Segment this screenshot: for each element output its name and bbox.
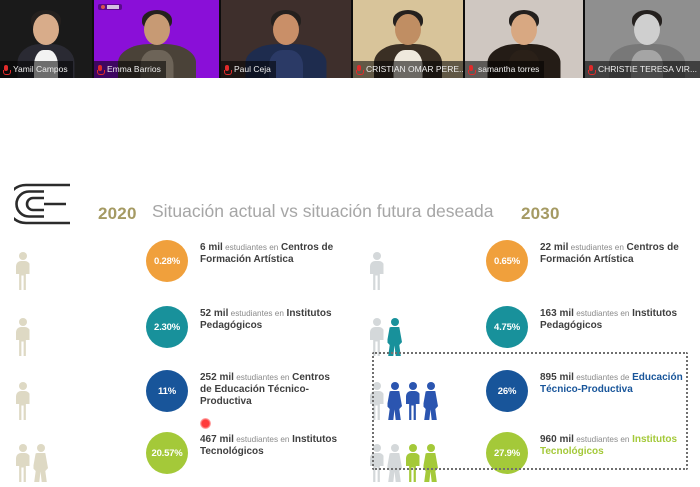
recording-bars-icon (107, 5, 119, 9)
stat-count: 6 mil (200, 242, 223, 253)
stat-connector: estudiantes en (574, 435, 630, 444)
participant-head (634, 14, 660, 45)
participant-name: Yamil Campos (13, 61, 68, 78)
percentage-bubble: 2.30% (146, 306, 188, 348)
person-head (427, 382, 435, 390)
participant-name: CHRISTIE TERESA VIR... (598, 61, 697, 78)
stat-row-right-0: 0.65%22 mil estudiantes en Centros de Fo… (350, 238, 700, 290)
person-head (373, 444, 381, 452)
percentage-bubble: 4.75% (486, 306, 528, 348)
participant-name: CRISTIAN OMAR PERE... (366, 61, 463, 78)
person-body (33, 453, 48, 482)
stat-connector: estudiantes en (234, 435, 290, 444)
person-body (387, 391, 402, 420)
participant-name-bar: Paul Ceja (221, 61, 276, 78)
stat-connector: estudiantes de (574, 373, 630, 382)
video-tile-2[interactable]: Paul Ceja (221, 0, 351, 78)
person-body (370, 391, 384, 420)
stat-row-right-2: 26%895 mil estudiantes de Educación Técn… (350, 368, 700, 420)
percentage-bubble: 0.28% (146, 240, 188, 282)
percentage-bubble: 20.57% (146, 432, 188, 474)
participant-head (395, 14, 421, 45)
stat-row-right-3: 27.9%960 mil estudiantes en Institutos T… (350, 430, 700, 482)
percentage-value: 0.65% (494, 256, 520, 267)
stat-count: 467 mil (200, 434, 234, 445)
percentage-value: 2.30% (154, 322, 180, 333)
person-head (373, 318, 381, 326)
stat-description: 6 mil estudiantes en Centros de Formació… (200, 242, 344, 266)
person-icon-0 (368, 444, 385, 482)
stat-description: 960 mil estudiantes en Institutos Tecnol… (540, 434, 694, 458)
microphone-muted-icon (356, 65, 363, 75)
percentage-value: 0.28% (154, 256, 180, 267)
microphone-muted-icon (97, 65, 104, 75)
person-body (406, 453, 420, 482)
person-body (423, 391, 438, 420)
person-icon-1 (32, 444, 49, 482)
microphone-muted-icon (588, 65, 595, 75)
person-icon-0 (14, 252, 31, 290)
person-body (16, 261, 30, 290)
column-2030: 0.65%22 mil estudiantes en Centros de Fo… (350, 238, 700, 487)
percentage-value: 4.75% (494, 322, 520, 333)
person-body (370, 261, 384, 290)
participant-name-bar: samantha torres (465, 61, 544, 78)
person-head (37, 444, 45, 452)
percentage-value: 20.57% (151, 448, 182, 459)
people-pictogram (368, 238, 488, 290)
person-icon-0 (14, 444, 31, 482)
percentage-bubble: 0.65% (486, 240, 528, 282)
participant-head (144, 14, 170, 45)
person-head (19, 444, 27, 452)
person-body (370, 453, 384, 482)
person-head (409, 382, 417, 390)
stat-count: 52 mil (200, 308, 228, 319)
people-pictogram (368, 430, 488, 482)
stat-count: 895 mil (540, 372, 574, 383)
percentage-bubble: 11% (146, 370, 188, 412)
person-icon-3 (422, 382, 439, 420)
people-pictogram (368, 304, 488, 356)
participant-head (511, 14, 537, 45)
person-head (391, 444, 399, 452)
person-icon-2 (404, 444, 421, 482)
participant-name-bar: Yamil Campos (0, 61, 73, 78)
page-title: Situación actual vs situación futura des… (152, 201, 512, 222)
stat-row-left-0: 0.28%6 mil estudiantes en Centros de For… (0, 238, 350, 290)
percentage-bubble: 27.9% (486, 432, 528, 474)
person-head (427, 444, 435, 452)
video-tile-0[interactable]: Yamil Campos (0, 0, 92, 78)
stat-connector: estudiantes en (234, 373, 290, 382)
person-body (370, 327, 384, 356)
person-head (19, 382, 27, 390)
person-head (19, 252, 27, 260)
video-tile-4[interactable]: samantha torres (465, 0, 583, 78)
participant-name-bar: CHRISTIE TERESA VIR... (585, 61, 700, 78)
person-head (391, 318, 399, 326)
stat-row-left-3: 20.57%467 mil estudiantes en Institutos … (0, 430, 350, 482)
participant-name: Paul Ceja (234, 61, 271, 78)
stat-count: 163 mil (540, 308, 574, 319)
slide-header: 2020 Situación actual vs situación futur… (0, 204, 700, 230)
person-head (409, 444, 417, 452)
stat-description: 252 mil estudiantes en Centros de Educac… (200, 372, 344, 409)
recording-badge (98, 4, 122, 10)
participant-name-bar: CRISTIAN OMAR PERE... (353, 61, 463, 78)
microphone-muted-icon (3, 65, 10, 75)
person-head (19, 318, 27, 326)
percentage-value: 26% (498, 386, 516, 397)
participant-head (273, 14, 299, 45)
stat-count: 252 mil (200, 372, 234, 383)
stat-description: 467 mil estudiantes en Institutos Tecnol… (200, 434, 344, 458)
presentation-slide: 2020 Situación actual vs situación futur… (0, 78, 700, 487)
stat-count: 960 mil (540, 434, 574, 445)
person-icon-0 (368, 252, 385, 290)
stat-connector: estudiantes en (228, 309, 284, 318)
people-pictogram (14, 430, 134, 482)
person-head (373, 252, 381, 260)
people-pictogram (14, 368, 134, 420)
person-icon-3 (422, 444, 439, 482)
people-pictogram (368, 368, 488, 420)
stat-description: 163 mil estudiantes en Institutos Pedagó… (540, 308, 694, 332)
participant-head (33, 14, 59, 45)
person-body (16, 327, 30, 356)
video-tile-3[interactable]: CRISTIAN OMAR PERE... (353, 0, 463, 78)
video-participant-strip: Yamil CamposEmma BarriosPaul CejaCRISTIA… (0, 0, 700, 78)
person-icon-0 (14, 318, 31, 356)
microphone-muted-icon (468, 65, 475, 75)
person-icon-1 (386, 382, 403, 420)
person-icon-0 (14, 382, 31, 420)
stat-description: 52 mil estudiantes en Institutos Pedagóg… (200, 308, 344, 332)
year-label-2030: 2030 (521, 204, 560, 224)
microphone-muted-icon (224, 65, 231, 75)
person-icon-1 (386, 444, 403, 482)
person-body (16, 453, 30, 482)
video-tile-5[interactable]: CHRISTIE TERESA VIR... (585, 0, 700, 78)
stat-description: 895 mil estudiantes de Educación Técnico… (540, 372, 694, 396)
video-tile-1[interactable]: Emma Barrios (94, 0, 219, 78)
person-head (373, 382, 381, 390)
percentage-value: 11% (158, 386, 176, 397)
stat-description: 22 mil estudiantes en Centros de Formaci… (540, 242, 694, 266)
laser-pointer-dot (200, 418, 211, 429)
stat-row-right-1: 4.75%163 mil estudiantes en Institutos P… (350, 304, 700, 356)
column-2020: 0.28%6 mil estudiantes en Centros de For… (0, 238, 350, 487)
person-body (423, 453, 438, 482)
person-icon-1 (386, 318, 403, 356)
person-body (387, 327, 402, 356)
stat-connector: estudiantes en (223, 243, 279, 252)
people-pictogram (14, 304, 134, 356)
participant-name: samantha torres (478, 61, 539, 78)
stat-connector: estudiantes en (574, 309, 630, 318)
record-dot-icon (101, 5, 105, 9)
stat-row-left-2: 11%252 mil estudiantes en Centros de Edu… (0, 368, 350, 420)
participant-name-bar: Emma Barrios (94, 61, 166, 78)
person-icon-0 (368, 382, 385, 420)
stat-row-left-1: 2.30%52 mil estudiantes en Institutos Pe… (0, 304, 350, 356)
person-icon-2 (404, 382, 421, 420)
person-head (391, 382, 399, 390)
stat-count: 22 mil (540, 242, 568, 253)
year-label-2020: 2020 (98, 204, 137, 224)
person-body (387, 453, 402, 482)
stat-connector: estudiantes en (568, 243, 624, 252)
percentage-bubble: 26% (486, 370, 528, 412)
person-body (16, 391, 30, 420)
person-icon-0 (368, 318, 385, 356)
participant-name: Emma Barrios (107, 61, 161, 78)
person-body (406, 391, 420, 420)
people-pictogram (14, 238, 134, 290)
percentage-value: 27.9% (494, 448, 520, 459)
